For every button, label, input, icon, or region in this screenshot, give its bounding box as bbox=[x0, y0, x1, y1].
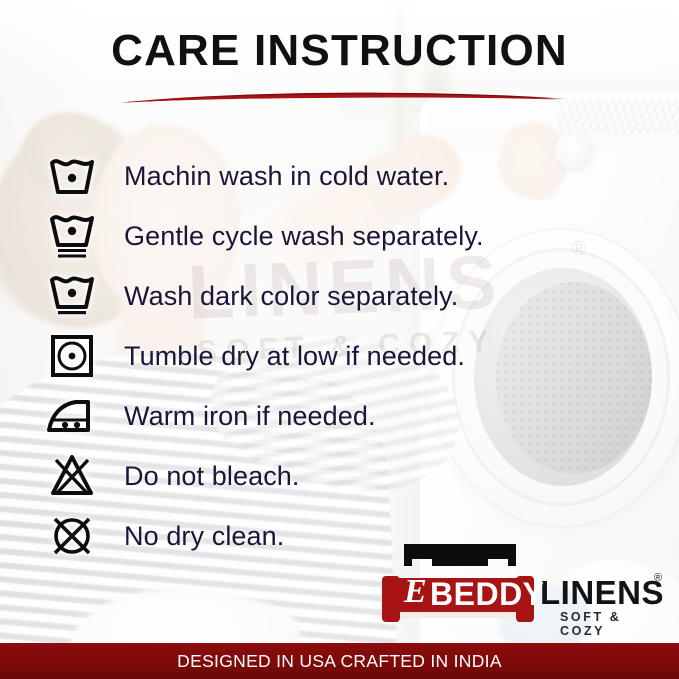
footer-bar: DESIGNED IN USA CRAFTED IN INDIA bbox=[0, 643, 679, 679]
bed-silhouette-icon bbox=[404, 544, 516, 574]
tumble-dry-low-icon bbox=[44, 330, 100, 382]
care-instruction-card: LINENS ® SOFT & COZY CARE INSTRUCTION Ma… bbox=[0, 0, 679, 679]
care-row: Do not bleach. bbox=[44, 446, 644, 506]
care-text: Gentle cycle wash separately. bbox=[124, 221, 484, 252]
care-row: Tumble dry at low if needed. bbox=[44, 326, 644, 386]
logo-registered-mark: ® bbox=[654, 572, 662, 584]
wash-dark-icon bbox=[44, 270, 100, 322]
care-text: Wash dark color separately. bbox=[124, 281, 458, 312]
logo-monogram: E bbox=[404, 575, 427, 609]
care-text: No dry clean. bbox=[124, 521, 284, 552]
care-text: Do not bleach. bbox=[124, 461, 300, 492]
page-title: CARE INSTRUCTION bbox=[0, 26, 679, 76]
footer-text: DESIGNED IN USA CRAFTED IN INDIA bbox=[177, 651, 502, 672]
do-not-bleach-icon bbox=[44, 450, 100, 502]
logo-brand-beddy: BEDDY bbox=[430, 578, 545, 610]
care-text: Warm iron if needed. bbox=[124, 401, 376, 432]
warm-iron-icon bbox=[44, 390, 100, 442]
care-row: Gentle cycle wash separately. bbox=[44, 206, 644, 266]
care-row: Warm iron if needed. bbox=[44, 386, 644, 446]
machine-wash-icon bbox=[44, 150, 100, 202]
title-underline-swoosh bbox=[116, 89, 568, 105]
logo-tagline: SOFT & COZY bbox=[560, 610, 672, 638]
care-row: Wash dark color separately. bbox=[44, 266, 644, 326]
gentle-cycle-icon bbox=[44, 210, 100, 262]
care-instruction-list: Machin wash in cold water. Gentle cycle … bbox=[44, 146, 644, 566]
no-dry-clean-icon bbox=[44, 510, 100, 562]
care-text: Machin wash in cold water. bbox=[124, 161, 449, 192]
care-row: Machin wash in cold water. bbox=[44, 146, 644, 206]
logo-brand-linens: LINENS bbox=[540, 576, 664, 609]
care-text: Tumble dry at low if needed. bbox=[124, 341, 465, 372]
brand-logo: E BEDDY LINENS ® SOFT & COZY bbox=[382, 548, 672, 632]
